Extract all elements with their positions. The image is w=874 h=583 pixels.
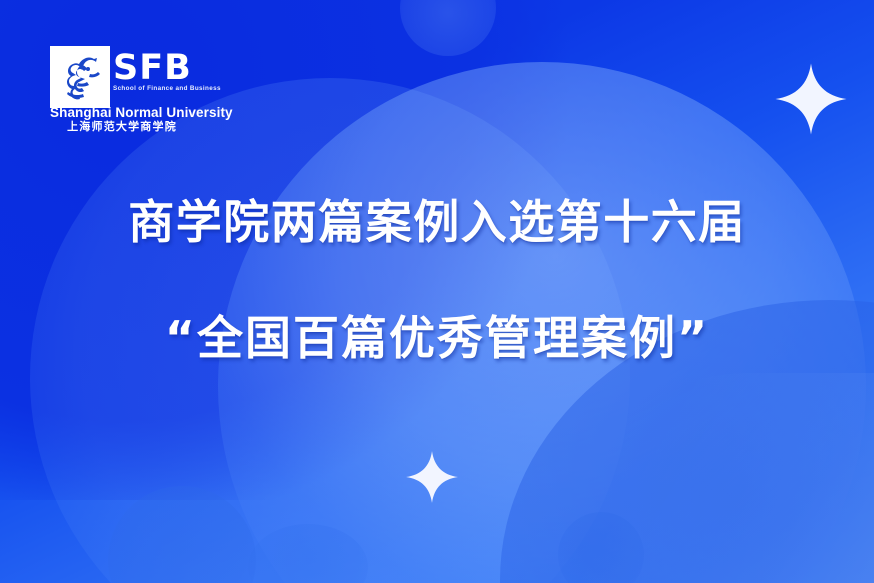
- logo-university-cn: 上海师范大学商学院: [50, 122, 194, 133]
- sparkle-small-icon: [405, 450, 459, 504]
- headline-line-2: “全国百篇优秀管理案例”: [0, 312, 874, 365]
- logo-tagline: School of Finance and Business: [113, 85, 221, 92]
- logo-university-en: Shanghai Normal University: [50, 106, 194, 120]
- sparkle-large-icon: [774, 62, 848, 136]
- logo-abbrev: SFB: [113, 52, 219, 84]
- banner-headline: 商学院两篇案例入选第十六届 “全国百篇优秀管理案例”: [0, 196, 874, 365]
- banner-canvas: SFB School of Finance and Business Shang…: [0, 0, 874, 583]
- sfb-logo: SFB School of Finance and Business Shang…: [50, 46, 219, 108]
- headline-line-1: 商学院两篇案例入选第十六届: [0, 196, 874, 249]
- dragon-emblem-icon: [50, 46, 110, 108]
